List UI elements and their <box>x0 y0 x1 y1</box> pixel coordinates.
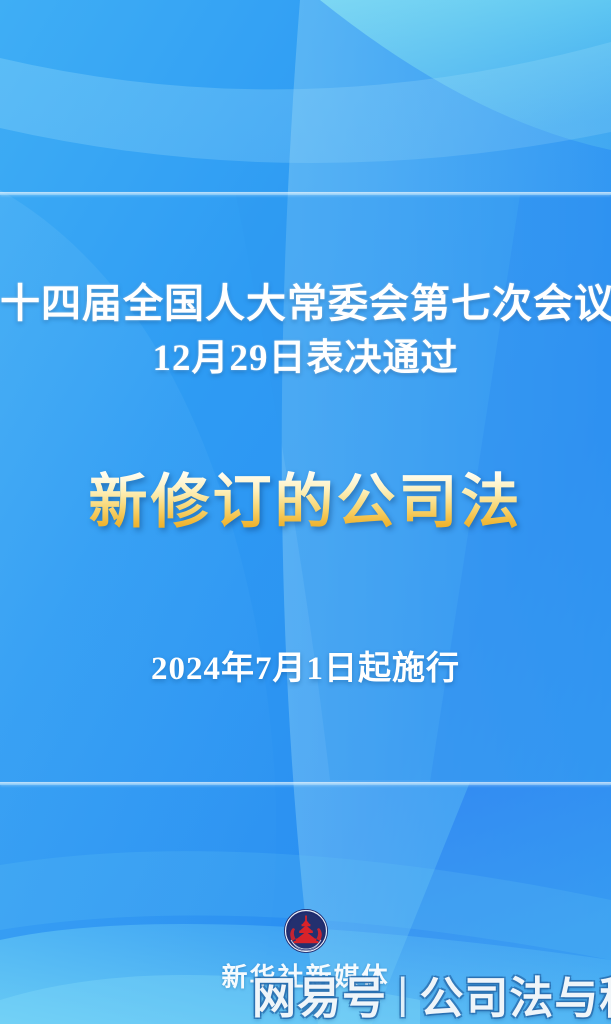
headline-line-1: 十四届全国人大常委会第七次会议 <box>0 276 611 333</box>
watermark-separator: | <box>397 969 409 1019</box>
gold-title-block: 新修订的公司法 <box>0 466 611 540</box>
watermark-account: 公司法与税 <box>419 962 611 1024</box>
headline-line-2: 12月29日表决通过 <box>0 333 611 386</box>
xinhua-emblem-icon <box>283 908 329 954</box>
gold-title-text: 新修订的公司法 <box>88 466 522 540</box>
platform-watermark: 网易号 | 公司法与税 <box>252 962 611 1024</box>
headline-block: 十四届全国人大常委会第七次会议 12月29日表决通过 <box>0 276 611 385</box>
poster-canvas: 十四届全国人大常委会第七次会议 12月29日表决通过 新修订的公司法 2024年… <box>0 0 611 1024</box>
effective-date-text: 2024年7月1日起施行 <box>0 641 611 689</box>
poster-content: 十四届全国人大常委会第七次会议 12月29日表决通过 新修订的公司法 2024年… <box>0 0 611 1024</box>
watermark-platform: 网易号 <box>252 962 387 1024</box>
